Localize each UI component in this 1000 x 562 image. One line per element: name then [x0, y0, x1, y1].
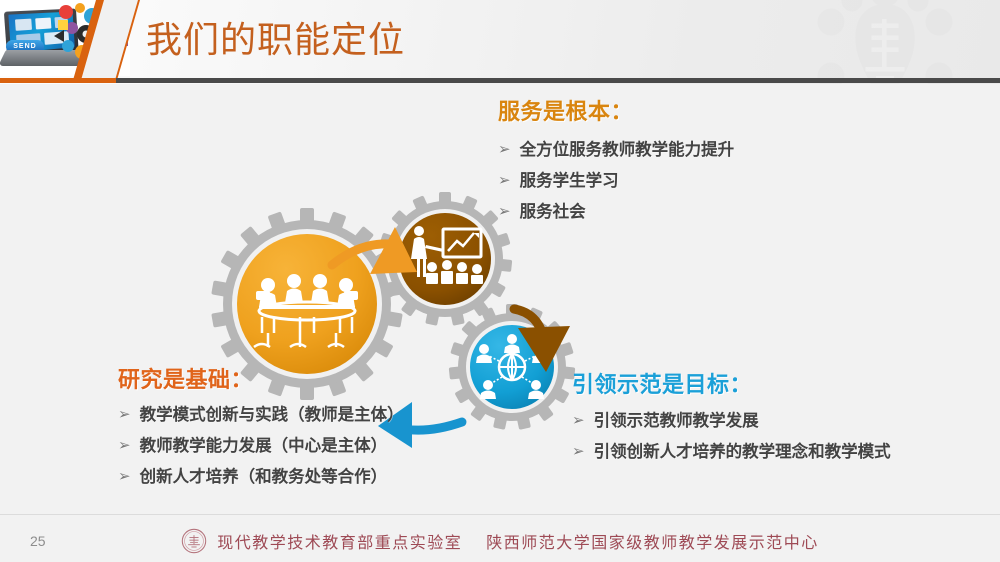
slide-content: 服务是根本： ➢ 全方位服务教师教学能力提升 ➢ 服务学生学习 ➢ 服务社会 研… [0, 84, 1000, 514]
list-item-label: 引领示范教师教学发展 [594, 411, 759, 431]
block-leading: 引领示范是目标： ➢ 引领示范教师教学发展 ➢ 引领创新人才培养的教学理念和教学… [572, 367, 891, 462]
block-service-list: ➢ 全方位服务教师教学能力提升 ➢ 服务学生学习 ➢ 服务社会 [498, 140, 734, 222]
header-rule [0, 78, 1000, 83]
list-item: ➢ 服务社会 [498, 202, 734, 222]
header-watermark-logo [810, 0, 960, 84]
list-item: ➢ 服务学生学习 [498, 171, 734, 191]
bullet-icon: ➢ [498, 140, 511, 160]
footer-separator [0, 514, 1000, 515]
list-item-label: 服务社会 [520, 202, 586, 222]
list-item: ➢ 引领示范教师教学发展 [572, 411, 891, 431]
university-seal-icon [181, 528, 207, 554]
slide-footer: 现代教学技术教育部重点实验室 陕西师范大学国家级教师教学发展示范中心 [0, 520, 1000, 562]
list-item-label: 创新人才培养（和教务处等合作） [140, 467, 388, 487]
block-service: 服务是根本： ➢ 全方位服务教师教学能力提升 ➢ 服务学生学习 ➢ 服务社会 [498, 94, 734, 222]
list-item-label: 教学模式创新与实践（教师是主体） [140, 405, 404, 425]
list-item: ➢ 创新人才培养（和教务处等合作） [118, 467, 404, 487]
bullet-icon: ➢ [118, 436, 131, 456]
block-leading-list: ➢ 引领示范教师教学发展 ➢ 引领创新人才培养的教学理念和教学模式 [572, 411, 891, 462]
list-item: ➢ 引领创新人才培养的教学理念和教学模式 [572, 442, 891, 462]
block-research-list: ➢ 教学模式创新与实践（教师是主体） ➢ 教师教学能力发展（中心是主体） ➢ 创… [118, 405, 404, 487]
block-research: 研究是基础： ➢ 教学模式创新与实践（教师是主体） ➢ 教师教学能力发展（中心是… [118, 362, 404, 487]
page-title: 我们的职能定位 [146, 18, 405, 62]
list-item-label: 教师教学能力发展（中心是主体） [140, 436, 388, 456]
header-rule-accent [0, 78, 116, 83]
list-item-label: 服务学生学习 [520, 171, 619, 191]
bullet-icon: ➢ [498, 171, 511, 191]
bullet-icon: ➢ [572, 411, 585, 431]
list-item: ➢ 教师教学能力发展（中心是主体） [118, 436, 404, 456]
footer-center-name: 陕西师范大学国家级教师教学发展示范中心 [486, 529, 819, 553]
block-leading-title: 引领示范是目标： [572, 367, 891, 399]
list-item-label: 全方位服务教师教学能力提升 [520, 140, 735, 160]
bullet-icon: ➢ [118, 405, 131, 425]
slide-header: SEND 我们的职能定位 [0, 0, 1000, 84]
gear-network [449, 304, 576, 430]
block-research-title: 研究是基础： [118, 362, 404, 394]
bullet-icon: ➢ [118, 467, 131, 487]
block-service-title: 服务是根本： [498, 94, 734, 126]
list-item: ➢ 全方位服务教师教学能力提升 [498, 140, 734, 160]
bullet-icon: ➢ [572, 442, 585, 462]
footer-lab-name: 现代教学技术教育部重点实验室 [217, 529, 462, 553]
list-item: ➢ 教学模式创新与实践（教师是主体） [118, 405, 404, 425]
bullet-icon: ➢ [498, 202, 511, 222]
list-item-label: 引领创新人才培养的教学理念和教学模式 [594, 442, 891, 462]
